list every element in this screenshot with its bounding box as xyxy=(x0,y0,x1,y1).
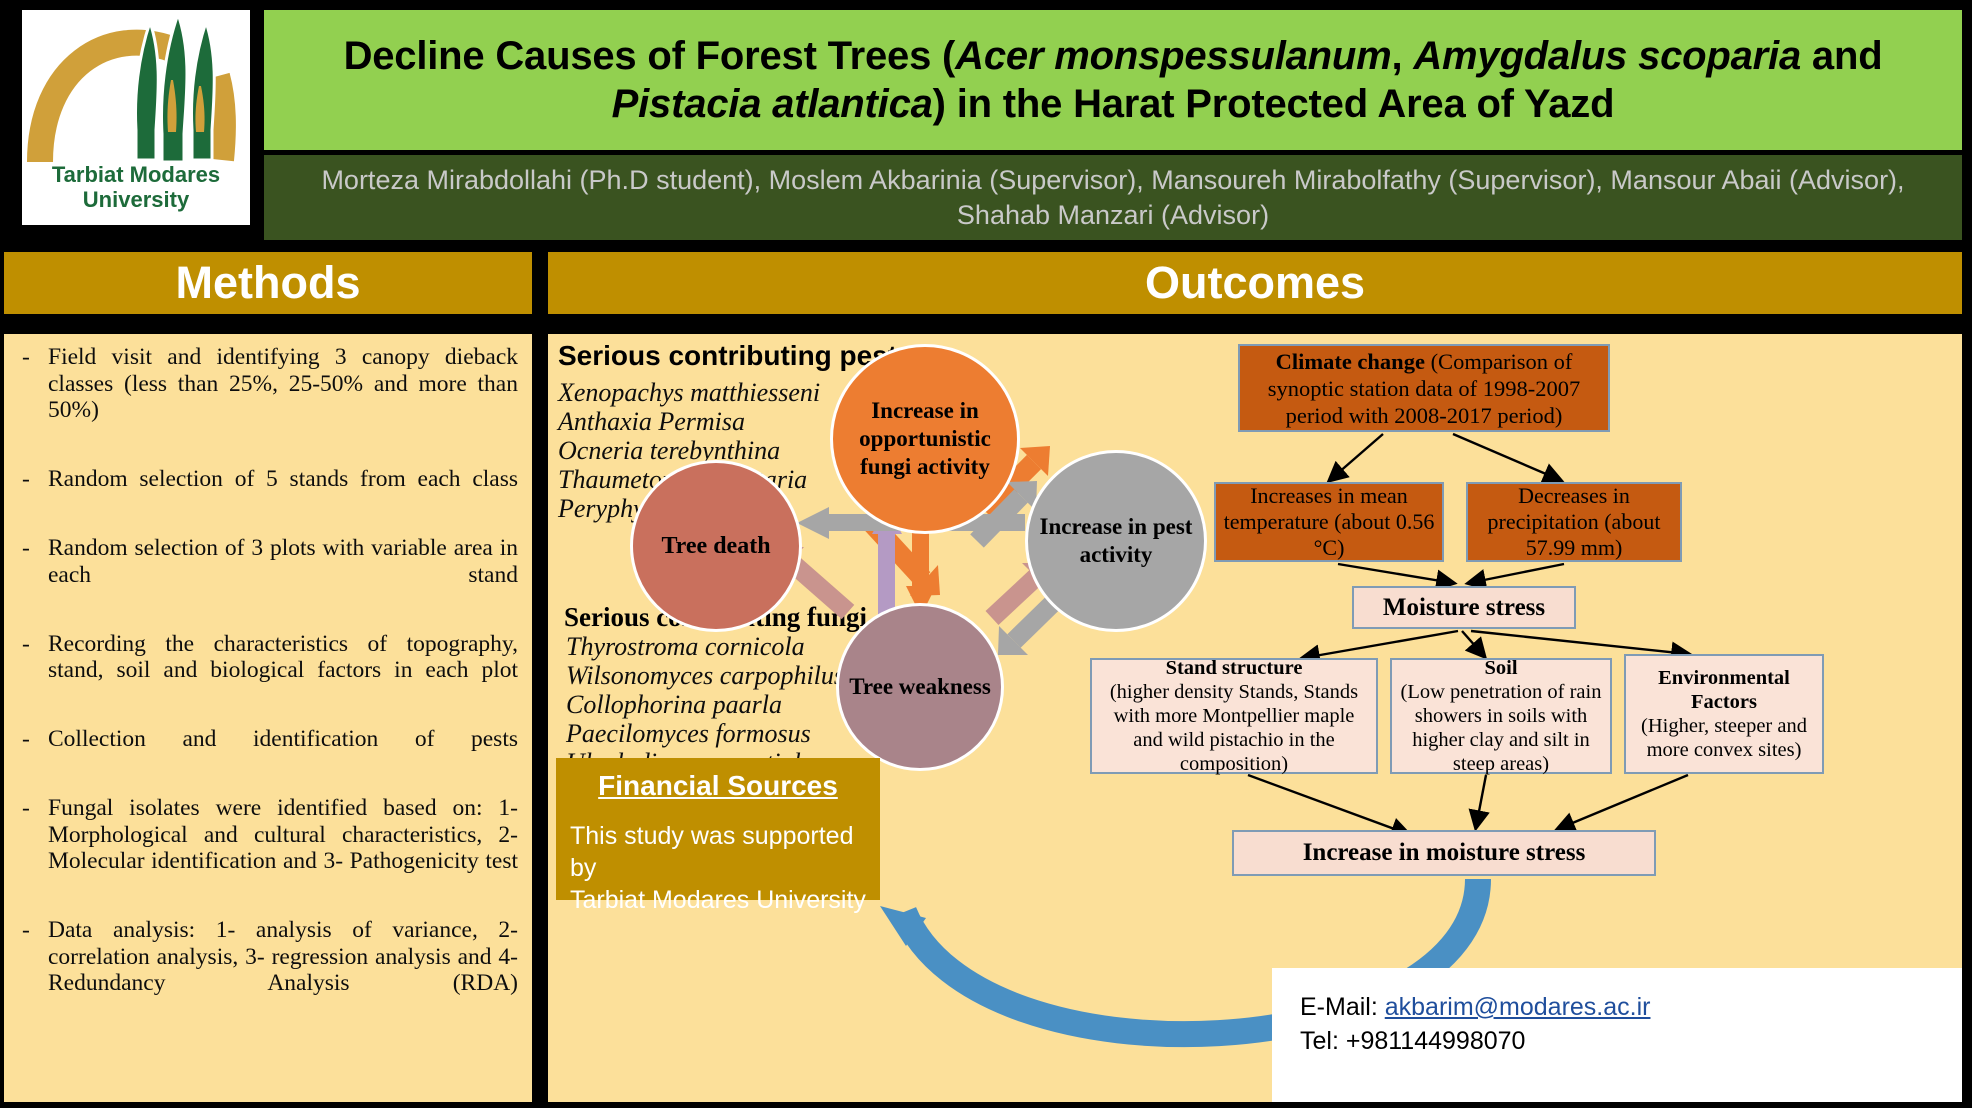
stand-bold-label: Stand structure xyxy=(1166,657,1303,679)
methods-list: -Field visit and identifying 3 canopy di… xyxy=(10,344,518,1023)
methods-bullet-marker: - xyxy=(10,344,48,450)
title-part-1: Decline Causes of Forest Trees ( xyxy=(344,34,956,78)
node-tree-death[interactable]: Tree death xyxy=(630,460,802,632)
node-increase-fungi-activity[interactable]: Increase in opportunistic fungi activity xyxy=(830,344,1020,534)
connector-stand-to-increase xyxy=(1248,775,1408,834)
soil-bold-label: Soil xyxy=(1484,657,1517,679)
methods-item: -Collection and identification of pests xyxy=(10,726,518,779)
node-increase-pest-activity[interactable]: Increase in pest activity xyxy=(1025,450,1207,632)
pest-item: Anthaxia Permisa xyxy=(558,407,820,436)
box-soil[interactable]: Soil(Low penetration of rain showers in … xyxy=(1390,658,1612,774)
methods-item: -Random selection of 5 stands from each … xyxy=(10,466,518,519)
arrow-pest-to-weakness xyxy=(998,600,1056,655)
methods-title: Methods xyxy=(176,257,361,309)
box-moisture-stress[interactable]: Moisture stress xyxy=(1352,586,1576,629)
methods-item: -Data analysis: 1- analysis of variance,… xyxy=(10,917,518,1023)
connector-moisture-to-stand xyxy=(1303,631,1458,658)
connector-climate-to-temp xyxy=(1330,434,1383,480)
soil-rest-label: (Low penetration of rain showers in soil… xyxy=(1401,681,1602,775)
pest-item: Ocneria terebynthina xyxy=(558,436,820,465)
box-temperature-increase[interactable]: Increases in mean temperature (about 0.5… xyxy=(1214,482,1444,562)
connector-moisture-to-soil xyxy=(1462,631,1484,656)
logo-text: Tarbiat Modares University xyxy=(22,162,250,212)
outcomes-title: Outcomes xyxy=(1145,257,1365,309)
poster-root: Tarbiat Modares University Decline Cause… xyxy=(0,0,1972,1108)
methods-bullet-marker: - xyxy=(10,535,48,615)
university-logo: Tarbiat Modares University xyxy=(22,10,250,225)
fungi-item: Thyrostroma cornicola xyxy=(566,632,844,661)
financial-title: Financial Sources xyxy=(556,770,880,802)
node-weakness-label: Tree weakness xyxy=(849,673,991,701)
box-environmental-factors[interactable]: Environmental Factors(Higher, steeper an… xyxy=(1624,654,1824,774)
methods-item-text: Data analysis: 1- analysis of variance, … xyxy=(48,917,518,1023)
email-link[interactable]: akbarim@modares.ac.ir xyxy=(1385,993,1651,1021)
connector-climate-to-precip xyxy=(1453,434,1560,480)
connector-env-to-increase xyxy=(1558,775,1688,829)
node-tree-weakness[interactable]: Tree weakness xyxy=(836,603,1004,771)
methods-item: -Random selection of 3 plots with variab… xyxy=(10,535,518,615)
species-acer: Acer monspessulanum xyxy=(955,34,1391,78)
increase-moisture-label: Increase in moisture stress xyxy=(1303,839,1586,867)
stand-rest-label: (higher density Stands, Stands with more… xyxy=(1110,681,1358,775)
connector-soil-to-increase xyxy=(1476,775,1486,827)
methods-bullet-marker: - xyxy=(10,466,48,519)
box-stand-structure[interactable]: Stand structure(higher density Stands, S… xyxy=(1090,658,1378,774)
financial-line-2: Tarbiat Modares University xyxy=(570,884,880,916)
title-part-2: ) in the Harat Protected Area of Yazd xyxy=(933,82,1615,126)
outcomes-panel: Serious contributing pests Xenopachys ma… xyxy=(548,334,1962,1102)
fungi-item: Wilsonomyces carpophilus xyxy=(566,661,844,690)
financial-line-1: This study was supported by xyxy=(570,820,880,884)
financial-sources-box: Financial Sources This study was support… xyxy=(556,758,880,900)
logo-line-1: Tarbiat Modares xyxy=(52,162,220,187)
species-amygdalus: Amygdalus scoparia xyxy=(1413,34,1801,78)
methods-section-header: Methods xyxy=(4,252,532,314)
species-pistacia: Pistacia atlantica xyxy=(612,82,933,126)
methods-item-text: Recording the characteristics of topogra… xyxy=(48,631,518,711)
methods-item-text: Collection and identification of pests xyxy=(48,726,518,779)
precipitation-label: Decreases in precipitation (about 57.99 … xyxy=(1472,483,1676,561)
env-rest-label: (Higher, steeper and more convex sites) xyxy=(1641,715,1807,761)
node-death-label: Tree death xyxy=(661,532,770,560)
methods-item-text: Fungal isolates were identified based on… xyxy=(48,795,518,901)
logo-line-2: University xyxy=(83,187,189,212)
methods-item: -Fungal isolates were identified based o… xyxy=(10,795,518,901)
logo-mark-icon xyxy=(22,10,250,170)
node-pest-label: Increase in pest activity xyxy=(1028,513,1204,569)
box-precipitation-decrease[interactable]: Decreases in precipitation (about 57.99 … xyxy=(1466,482,1682,562)
methods-bullet-marker: - xyxy=(10,795,48,901)
title-sep-1: , xyxy=(1392,34,1414,78)
pests-heading: Serious contributing pests xyxy=(558,340,913,372)
pest-item: Xenopachys matthiesseni xyxy=(558,378,820,407)
climate-bold-label: Climate change xyxy=(1276,349,1425,374)
connector-moisture-to-env xyxy=(1471,631,1688,654)
connector-precip-to-moisture xyxy=(1469,564,1564,583)
methods-bullet-marker: - xyxy=(10,917,48,1023)
methods-bullet-marker: - xyxy=(10,631,48,711)
fungi-item: Collophorina paarla xyxy=(566,690,844,719)
moisture-stress-label: Moisture stress xyxy=(1383,594,1545,622)
temperature-label: Increases in mean temperature (about 0.5… xyxy=(1220,483,1438,561)
methods-panel: -Field visit and identifying 3 canopy di… xyxy=(4,334,532,1102)
box-increase-in-moisture-stress[interactable]: Increase in moisture stress xyxy=(1232,830,1656,876)
title-mid: and xyxy=(1801,34,1882,78)
outcomes-section-header: Outcomes xyxy=(548,252,1962,314)
email-label: E-Mail: xyxy=(1300,993,1385,1021)
methods-item: -Recording the characteristics of topogr… xyxy=(10,631,518,711)
env-bold-label: Environmental Factors xyxy=(1658,667,1790,713)
page-title: Decline Causes of Forest Trees (Acer mon… xyxy=(278,32,1948,128)
methods-item-text: Random selection of 5 stands from each c… xyxy=(48,466,518,519)
methods-item-text: Random selection of 3 plots with variabl… xyxy=(48,535,518,615)
email-line: E-Mail: akbarim@modares.ac.ir xyxy=(1300,990,1962,1024)
authors-list: Morteza Mirabdollahi (Ph.D student), Mos… xyxy=(284,163,1942,233)
authors-band: Morteza Mirabdollahi (Ph.D student), Mos… xyxy=(264,155,1962,240)
financial-body: This study was supported by Tarbiat Moda… xyxy=(556,820,880,916)
connector-temp-to-moisture xyxy=(1338,564,1453,583)
tel-line: Tel: +981144998070 xyxy=(1300,1024,1962,1058)
box-climate-change[interactable]: Climate change (Comparison of synoptic s… xyxy=(1238,344,1610,432)
methods-item: -Field visit and identifying 3 canopy di… xyxy=(10,344,518,450)
contact-box: E-Mail: akbarim@modares.ac.ir Tel: +9811… xyxy=(1272,968,1962,1102)
poster-title-band: Decline Causes of Forest Trees (Acer mon… xyxy=(264,10,1962,150)
methods-item-text: Field visit and identifying 3 canopy die… xyxy=(48,344,518,450)
fungi-item: Paecilomyces formosus xyxy=(566,719,844,748)
node-fungi-label: Increase in opportunistic fungi activity xyxy=(833,397,1017,481)
methods-bullet-marker: - xyxy=(10,726,48,779)
